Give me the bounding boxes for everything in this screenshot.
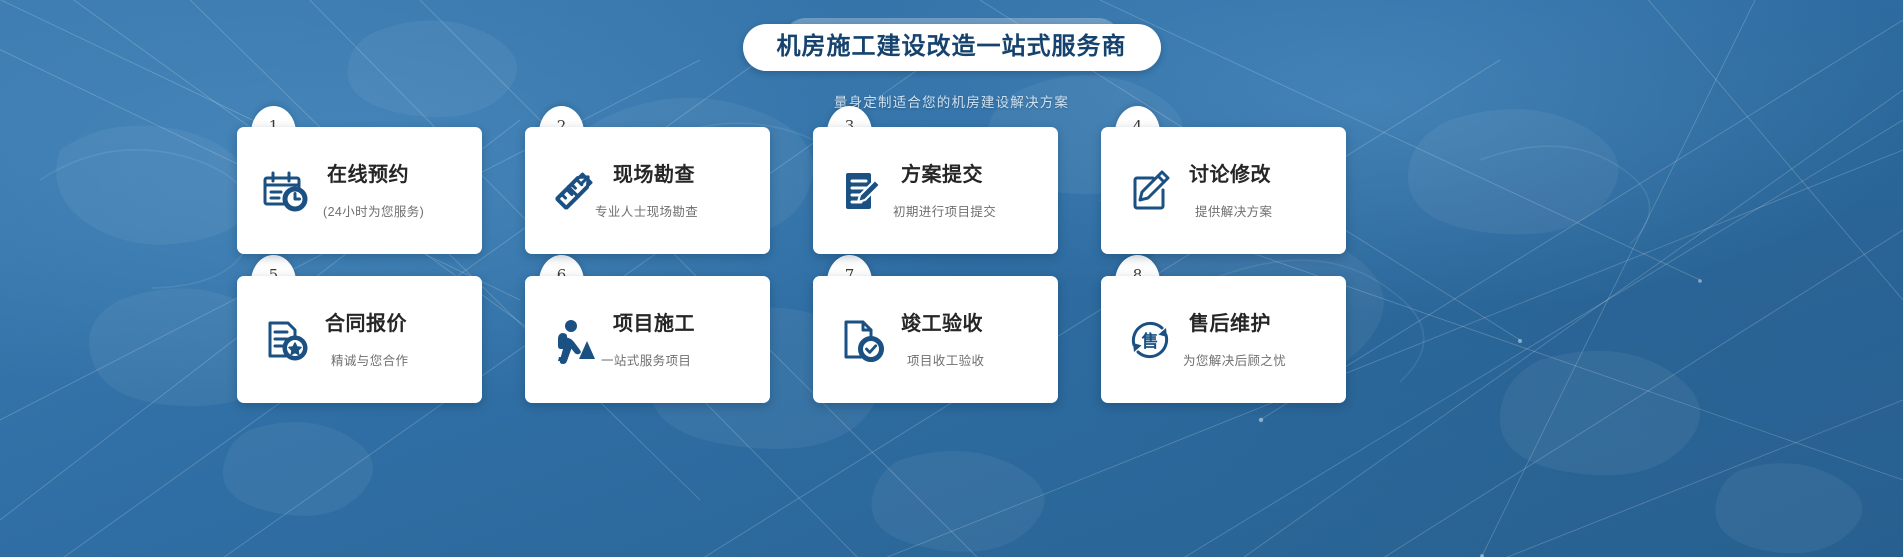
step-title: 在线预约 [327, 163, 424, 188]
step-card-texts: 讨论修改 提供解决方案 [1189, 161, 1272, 220]
step-subtitle: 专业人士现场勘查 [595, 201, 698, 220]
step-card-slot: 5 合同报价 精诚与您合作 [237, 276, 482, 403]
step-title: 项目施工 [613, 312, 695, 337]
process-steps-row-2: 5 合同报价 精诚与您合作 [237, 276, 1667, 403]
step-card-slot: 2 [525, 127, 770, 254]
step-card-contract-quote[interactable]: 合同报价 精诚与您合作 [237, 276, 482, 403]
svg-text:售: 售 [1142, 331, 1159, 352]
step-title: 现场勘查 [613, 163, 698, 188]
pencil-ruler-icon [547, 164, 601, 218]
document-star-badge-icon [259, 313, 313, 367]
step-title: 竣工验收 [901, 312, 984, 337]
step-subtitle: 为您解决后顾之忧 [1183, 350, 1286, 369]
step-card-slot: 4 讨论修改 提供解决方案 [1101, 127, 1346, 254]
step-card-project-construction[interactable]: 项目施工 一站式服务项目 [525, 276, 770, 403]
document-check-icon [835, 313, 889, 367]
step-card-site-survey[interactable]: 现场勘查 专业人士现场勘查 [525, 127, 770, 254]
after-sales-cycle-icon: 售 [1123, 313, 1177, 367]
step-subtitle: 提供解决方案 [1195, 201, 1272, 220]
step-title: 讨论修改 [1189, 163, 1272, 188]
step-subtitle: 初期进行项目提交 [893, 201, 996, 220]
step-card-texts: 方案提交 初期进行项目提交 [901, 161, 996, 220]
step-card-texts: 合同报价 精诚与您合作 [325, 310, 408, 369]
process-steps-row-1: 1 在线预约 [237, 127, 1667, 254]
step-card-slot: 7 竣工验收 项目收工验收 [813, 276, 1058, 403]
step-card-slot: 3 [813, 127, 1058, 254]
promo-banner: 机房施工建设改造一站式服务商 量身定制适合您的机房建设解决方案 1 [0, 0, 1903, 557]
step-card-texts: 项目施工 一站式服务项目 [613, 310, 695, 369]
calendar-clock-icon [259, 164, 313, 218]
step-card-texts: 竣工验收 项目收工验收 [901, 310, 984, 369]
step-card-after-sales-maintenance[interactable]: 售 售后维护 为您解决后顾之忧 [1101, 276, 1346, 403]
page-title: 机房施工建设改造一站式服务商 [777, 33, 1127, 61]
page-subtitle: 量身定制适合您的机房建设解决方案 [0, 91, 1903, 111]
construction-worker-icon [547, 313, 601, 367]
step-subtitle: 一站式服务项目 [601, 350, 695, 369]
step-card-slot: 1 在线预约 [237, 127, 482, 254]
step-card-texts: 现场勘查 专业人士现场勘查 [613, 161, 698, 220]
step-card-slot: 8 售 [1101, 276, 1346, 403]
step-title: 合同报价 [325, 312, 408, 337]
step-card-texts: 售后维护 为您解决后顾之忧 [1189, 310, 1286, 369]
step-title: 方案提交 [901, 163, 996, 188]
step-card-slot: 6 项目施工 一站式服务项目 [525, 276, 770, 403]
step-card-proposal-submission[interactable]: 方案提交 初期进行项目提交 [813, 127, 1058, 254]
step-card-discuss-revise[interactable]: 讨论修改 提供解决方案 [1101, 127, 1346, 254]
step-subtitle: 项目收工验收 [907, 350, 984, 369]
step-card-texts: 在线预约 (24小时为您服务) [327, 161, 424, 220]
edit-square-pencil-icon [1123, 164, 1177, 218]
step-card-online-booking[interactable]: 在线预约 (24小时为您服务) [237, 127, 482, 254]
step-subtitle: (24小时为您服务) [323, 201, 424, 220]
step-subtitle: 精诚与您合作 [331, 350, 408, 369]
step-title: 售后维护 [1189, 312, 1286, 337]
step-card-completion-acceptance[interactable]: 竣工验收 项目收工验收 [813, 276, 1058, 403]
title-pill: 机房施工建设改造一站式服务商 [743, 24, 1161, 71]
document-pen-icon [835, 164, 889, 218]
process-steps-grid: 1 在线预约 [237, 127, 1667, 403]
banner-header: 机房施工建设改造一站式服务商 量身定制适合您的机房建设解决方案 [0, 0, 1903, 111]
